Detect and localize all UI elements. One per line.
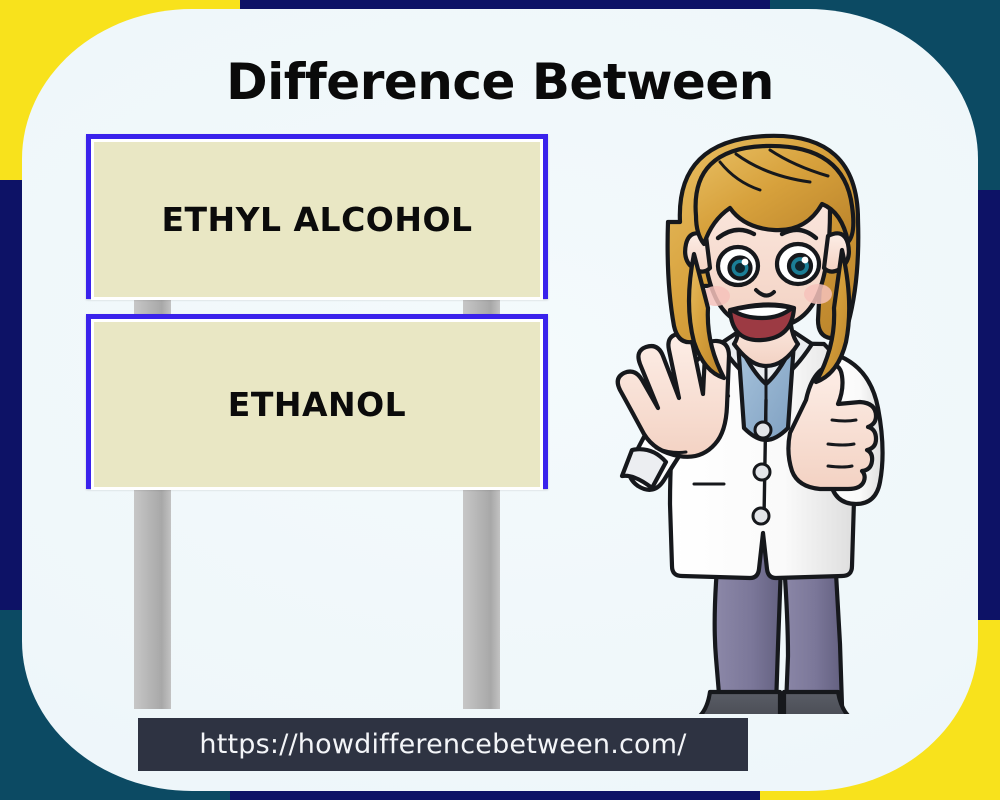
cartoon-scientist-illustration (570, 104, 970, 714)
poster-inner-card: Difference Between ETHYL ALCOHOL ETHANOL (22, 9, 978, 791)
website-url-text: https://howdifferencebetween.com/ (199, 729, 686, 760)
signboard-ethyl-alcohol[interactable]: ETHYL ALCOHOL (86, 134, 548, 299)
page-title: Difference Between (22, 53, 978, 111)
poster-canvas: Difference Between ETHYL ALCOHOL ETHANOL (0, 0, 1000, 800)
signboard-face: ETHANOL (91, 319, 543, 490)
signboard-face: ETHYL ALCOHOL (91, 139, 543, 300)
signboard-label: ETHANOL (228, 385, 406, 424)
website-url-banner[interactable]: https://howdifferencebetween.com/ (138, 718, 748, 771)
signboard-label: ETHYL ALCOHOL (161, 200, 472, 239)
signboard-ethanol[interactable]: ETHANOL (86, 314, 548, 489)
